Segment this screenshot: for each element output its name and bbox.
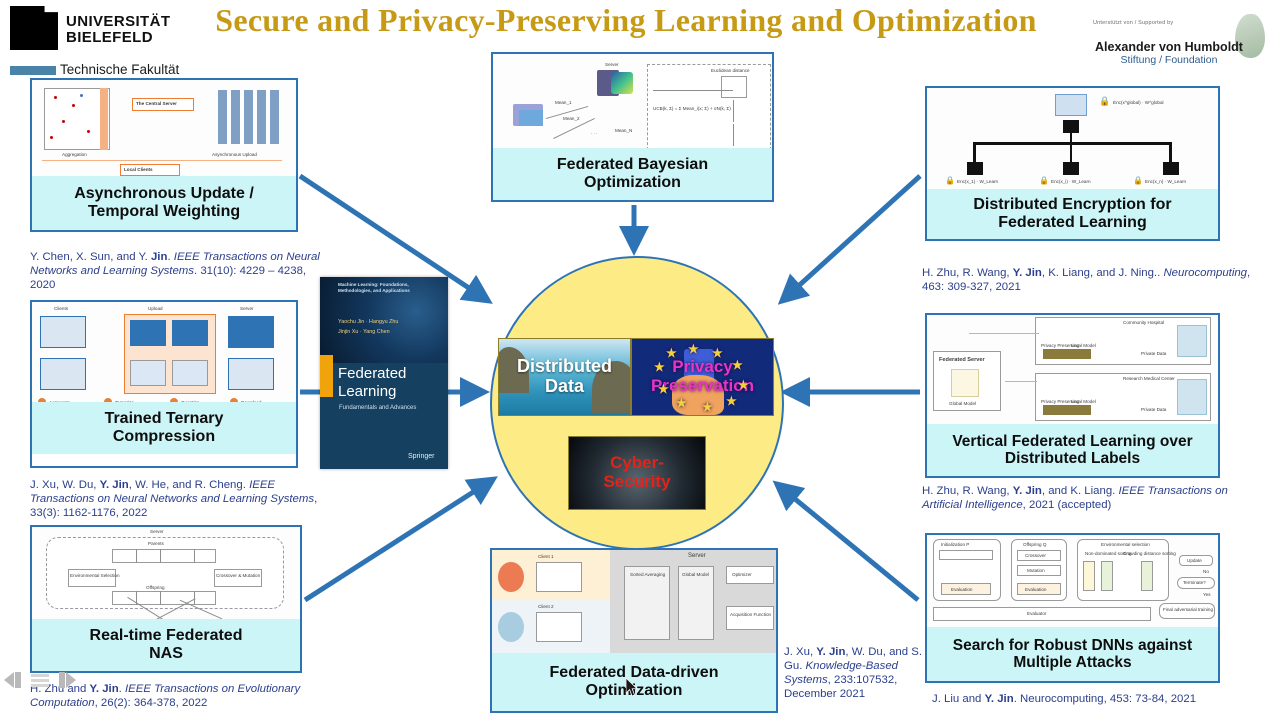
university-logo: UNIVERSITÄT BIELEFELD — [10, 6, 185, 66]
ref-sep: , and K. Liang. — [1042, 485, 1119, 497]
thumbnail-ternary-compression: Clients Upload Server Aggregate Ternariz… — [32, 302, 296, 414]
lock-icon-3: 🔒 — [1133, 176, 1143, 185]
thumb-label-community: Community Hospital — [1123, 320, 1164, 325]
ref-detail: , 26(2): 364-378, 2022 — [95, 697, 208, 709]
caption-asynchronous-update: Asynchronous Update /Temporal Weighting — [32, 176, 296, 230]
thumb-label-euclid: Euclidean distance — [711, 68, 750, 73]
book-title-2: Learning — [338, 383, 396, 400]
ref-authors: J. Liu and — [932, 693, 985, 705]
thumb-label-enc-2: Enc(x_i) · W_Learn — [1051, 179, 1091, 184]
nav-menu-button[interactable] — [30, 672, 50, 693]
mouse-cursor — [626, 678, 638, 696]
ref-journal2: Systems — [784, 674, 828, 686]
thumbnail-data-driven-optimization: Client 1 Client 2 Server Sorted Averagin… — [492, 550, 776, 654]
ref-jin: Y. Jin — [1013, 485, 1042, 497]
ref-jin: Y. Jin — [100, 479, 129, 491]
tile-privacy-preservation: PrivacyPreservation ★ ★ ★ ★ ★ ★ ★ ★ ★ ★ — [631, 338, 774, 416]
thumb-label-central-server: The Central Server — [136, 101, 177, 106]
thumb-label-crowd: Crowding distance sorting — [1123, 551, 1176, 556]
caption-ternary-compression: Trained TernaryCompression — [32, 402, 296, 454]
caption-text: Trained TernaryCompression — [105, 410, 224, 446]
university-name: UNIVERSITÄT BIELEFELD — [66, 14, 170, 46]
book-authors-1: Yaochu Jin · Hangyu Zhu — [338, 319, 398, 325]
caption-text: Distributed Encryption forFederated Lear… — [973, 196, 1171, 232]
thumb-label-local-clients: Local Clients — [124, 167, 153, 172]
ref-detail: . Neurocomputing, 453: 73-84, 2021 — [1014, 693, 1196, 705]
humboldt-logo: Unterstützt von / Supported by Alexander… — [1085, 6, 1265, 72]
thumb-label-enc-global: Enc(x^global) · W^global — [1113, 100, 1164, 105]
thumb-label-optimizer: Optimizer — [732, 572, 752, 577]
card-federated-bayesian-optimization[interactable]: Server Mean_1 Mean_2 . . . Mean_N Euclid… — [491, 52, 774, 202]
ref-jin: Jin — [151, 251, 167, 263]
tile-distributed-data: DistributedData — [498, 338, 631, 416]
reference-vertical-fl: H. Zhu, R. Wang, Y. Jin, and K. Liang. I… — [922, 484, 1267, 512]
thumb-label-enc-1: Enc(x_1) · W_Learn — [957, 179, 998, 184]
ref-authors: H. Zhu, R. Wang, — [922, 267, 1013, 279]
thumb-label-parents: Parents — [148, 541, 164, 546]
tile-label: Cyber-Security — [603, 454, 670, 491]
tile-label: DistributedData — [517, 357, 612, 397]
ref-journal: Neurocomputing — [1163, 267, 1247, 279]
thumb-label-eval-2: Evaluation — [1025, 587, 1046, 592]
card-asynchronous-update[interactable]: The Central Server Aggregation Asynchron… — [30, 78, 298, 232]
thumb-label-research: Research Medical Center — [1123, 376, 1175, 381]
ref-journal2: Computation — [30, 697, 95, 709]
reference-data-driven-optimization: J. Xu, Y. Jin, W. Du, and S. Gu. Knowled… — [784, 645, 934, 701]
lock-icon-1: 🔒 — [945, 176, 955, 185]
thumb-label-update: Update — [1187, 558, 1202, 563]
page-title: Secure and Privacy-Preserving Learning a… — [186, 2, 1066, 39]
book-publisher: Springer — [408, 453, 434, 460]
thumb-label-terminate: Terminate? — [1183, 580, 1206, 585]
ref-jin: Y. Jin — [816, 646, 845, 658]
thumb-label-sorted: Sorted Averaging — [630, 572, 665, 577]
slide-canvas: UNIVERSITÄT BIELEFELD Technische Fakultä… — [0, 0, 1269, 717]
thumb-label-enc-3: Enc(x_n) · W_Learn — [1145, 179, 1186, 184]
humboldt-supported-by: Unterstützt von / Supported by — [1093, 20, 1173, 26]
university-line2: BIELEFELD — [66, 30, 170, 46]
humboldt-subtitle: Stiftung / Foundation — [1085, 54, 1253, 66]
card-vertical-federated-learning[interactable]: Federated Server Global Model Community … — [925, 313, 1220, 478]
reference-asynchronous-update: Y. Chen, X. Sun, and Y. Jin. IEEE Transa… — [30, 250, 330, 292]
nav-previous-button[interactable] — [2, 670, 24, 695]
thumb-label-private-1: Private Data — [1141, 351, 1166, 356]
lock-icon-2: 🔒 — [1039, 176, 1049, 185]
thumbnail-robust-dnn: Initialization P Evaluation Offspring Q … — [927, 535, 1218, 627]
caption-text: Federated BayesianOptimization — [557, 156, 708, 192]
humboldt-name: Alexander von Humboldt — [1085, 40, 1253, 54]
thumb-label-selection: Environmental Selection — [70, 573, 120, 578]
thumb-label-async-upload: Asynchronous Upload — [212, 152, 257, 157]
thumb-label-fed-server: Federated Server — [939, 357, 985, 363]
thumb-label-mean1: Mean_1 — [555, 100, 572, 105]
thumb-label-server: Server — [150, 529, 164, 534]
ref-authors: Y. Chen, X. Sun, and Y. — [30, 251, 151, 263]
caption-robust-dnn: Search for Robust DNNs againstMultiple A… — [927, 627, 1218, 681]
thumbnail-bayesian-optimization: Server Mean_1 Mean_2 . . . Mean_N Euclid… — [493, 54, 772, 152]
thumb-label-offspring: Offspring — [146, 585, 165, 590]
book-authors-2: Jinjin Xu · Yang Chen — [338, 329, 390, 335]
faculty-bar — [10, 66, 56, 75]
reference-ternary-compression: J. Xu, W. Du, Y. Jin, W. He, and R. Chen… — [30, 478, 330, 520]
thumb-label-yes: Yes — [1203, 592, 1211, 597]
thumb-label-envsel: Environmental selection — [1101, 542, 1150, 547]
thumb-label-local-1: Local Model — [1071, 343, 1096, 348]
ref-authors: J. Xu, — [784, 646, 816, 658]
thumb-label-global: Global Model — [682, 572, 709, 577]
bielefeld-mark-icon — [10, 6, 58, 50]
thumb-label-server: Server — [605, 62, 619, 67]
thumb-label-client2: Client 2 — [538, 604, 554, 609]
book-title-1: Federated — [338, 365, 406, 382]
thumb-label-init: Initialization P — [941, 542, 969, 547]
thumb-label-crossover: Crossover — [1025, 553, 1046, 558]
thumb-label-no: No — [1203, 569, 1209, 574]
ref-detail: , 2021 (accepted) — [1023, 499, 1112, 511]
ref-date: December 2021 — [784, 688, 865, 700]
thumb-label-acq: Acquisition Function — [730, 612, 771, 617]
ref-detail: , 233:107532, — [828, 674, 898, 686]
ref-sep: , K. Liang, and J. Ning.. — [1042, 267, 1164, 279]
caption-text: Asynchronous Update /Temporal Weighting — [74, 185, 254, 221]
ref-detail: 463: 309-327, 2021 — [922, 281, 1021, 293]
ref-sep: , W. Du, and — [845, 646, 908, 658]
ref-journal: IEEE Transactions on Evolutionary — [125, 683, 300, 695]
thumb-label-global-model: Global Model — [949, 401, 976, 406]
card-trained-ternary-compression[interactable]: Clients Upload Server Aggregate Ternariz… — [30, 300, 298, 468]
ref-journal2: Neural Networks and Learning Systems — [113, 493, 314, 505]
lock-icon-global: 🔒 — [1099, 96, 1110, 107]
thumb-formula: UCB(k, Σ) = Σ Mean_i(x; Σ) + σN(k, Σ) — [653, 106, 731, 111]
nav-next-button[interactable] — [56, 670, 78, 695]
thumb-label-server: Server — [688, 553, 706, 559]
thumbnail-distributed-encryption: 🔒 Enc(x^global) · W^global 🔒 Enc(x_1) · … — [927, 88, 1218, 188]
ref-journal: IEEE Transactions on — [1119, 485, 1228, 497]
caption-text: Vertical Federated Learning overDistribu… — [952, 433, 1192, 468]
card-real-time-federated-nas[interactable]: Server Parents Environmental Selection C… — [30, 525, 302, 673]
card-distributed-encryption[interactable]: 🔒 Enc(x^global) · W^global 🔒 Enc(x_1) · … — [925, 86, 1220, 241]
thumb-label-evaluator: Evaluator — [1027, 611, 1046, 616]
caption-text: Search for Robust DNNs againstMultiple A… — [953, 637, 1192, 672]
thumb-label-private-2: Private Data — [1141, 407, 1166, 412]
caption-distributed-encryption: Distributed Encryption forFederated Lear… — [927, 189, 1218, 239]
thumbnail-federated-nas: Server Parents Environmental Selection C… — [32, 527, 300, 623]
ref-journal2: and Learning Systems — [81, 265, 194, 277]
thumb-label-local-2: Local Model — [1071, 399, 1096, 404]
thumb-label-aggregation: Aggregation — [62, 152, 87, 157]
thumb-label-final: Final adversarial training — [1163, 607, 1213, 612]
caption-federated-nas: Real-time FederatedNAS — [32, 619, 300, 671]
thumb-label-eval-1: Evaluation — [951, 587, 972, 592]
thumb-ellipsis: . . . — [591, 130, 597, 135]
thumb-label-client1: Client 1 — [538, 554, 554, 559]
ref-jin: Y. Jin — [90, 683, 119, 695]
book-series: Machine Learning: Foundations, Methodolo… — [338, 282, 442, 294]
ref-sep: , W. He, and R. Cheng. — [129, 479, 249, 491]
thumb-label-crossover: Crossover & Mutation — [216, 573, 260, 578]
thumb-label-mutation: Mutation — [1027, 568, 1045, 573]
ref-jin: Y. Jin — [1013, 267, 1042, 279]
thumbnail-asynchronous-update: The Central Server Aggregation Asynchron… — [32, 80, 296, 180]
ref-journal: Knowledge-Based — [806, 660, 898, 672]
thumb-label-offspring: Offspring Q — [1023, 542, 1046, 547]
ref-journal2: Artificial Intelligence — [922, 499, 1023, 511]
caption-text: Real-time FederatedNAS — [90, 627, 243, 663]
university-line1: UNIVERSITÄT — [66, 14, 170, 30]
reference-robust-dnn: J. Liu and Y. Jin. Neurocomputing, 453: … — [932, 692, 1262, 706]
thumb-label-meanN: Mean_N — [615, 128, 632, 133]
card-robust-dnn-search[interactable]: Initialization P Evaluation Offspring Q … — [925, 533, 1220, 683]
ref-authors: H. Zhu, R. Wang, — [922, 485, 1013, 497]
book-cover: Machine Learning: Foundations, Methodolo… — [320, 277, 448, 469]
caption-vertical-fl: Vertical Federated Learning overDistribu… — [927, 424, 1218, 476]
reference-distributed-encryption: H. Zhu, R. Wang, Y. Jin, K. Liang, and J… — [922, 266, 1267, 294]
thumb-label-mean2: Mean_2 — [563, 116, 580, 121]
book-subtitle: Fundamentals and Advances — [339, 405, 416, 411]
faculty-label: Technische Fakultät — [60, 62, 179, 77]
ref-authors: J. Xu, W. Du, — [30, 479, 100, 491]
ref-jin: Y. Jin — [985, 693, 1014, 705]
thumbnail-vertical-fl: Federated Server Global Model Community … — [927, 315, 1218, 425]
tile-cyber-security: Cyber-Security — [568, 436, 706, 510]
caption-bayesian-optimization: Federated BayesianOptimization — [493, 148, 772, 200]
